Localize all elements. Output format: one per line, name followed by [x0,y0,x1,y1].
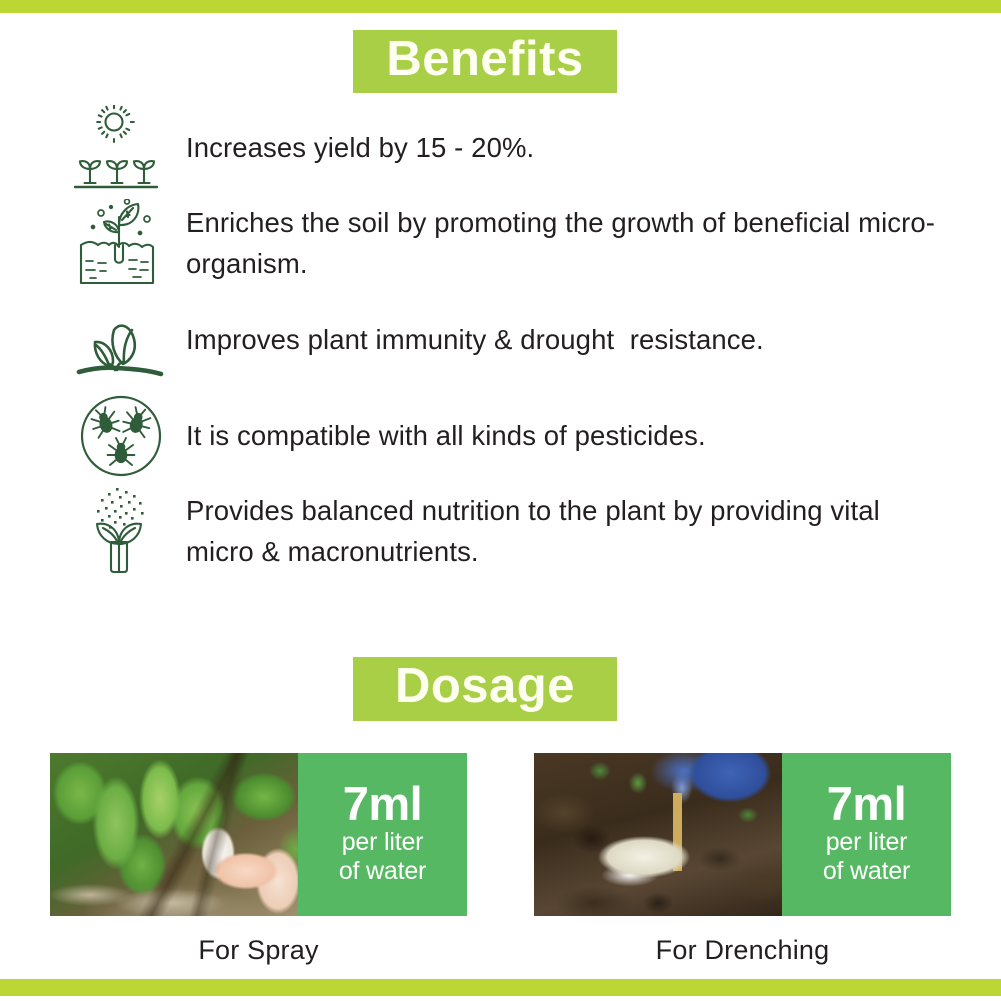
benefit-text: Provides balanced nutrition to the plant… [180,491,942,572]
dosage-amount-panel: 7ml per liter of water [782,753,951,916]
benefit-text: Enriches the soil by promoting the growt… [180,203,942,284]
dosage-card-drenching: 7ml per liter of water For Drenching [534,753,951,966]
dosage-visual: 7ml per liter of water [534,753,951,916]
infographic-page: Benefits [0,0,1001,1001]
top-accent-bar [0,0,1001,13]
dosage-unit-line-2: of water [339,857,426,886]
benefit-item: Improves plant immunity & drought resist… [62,292,942,388]
benefit-item: Enriches the soil by promoting the growt… [62,196,942,292]
dosage-unit-line-1: per liter [342,828,424,857]
dosage-unit-line-1: per liter [826,828,908,857]
dosage-heading-badge: Dosage [353,657,617,721]
insects-in-circle-icon [62,390,180,482]
benefit-text: Increases yield by 15 - 20%. [180,128,942,169]
dosage-cards: 7ml per liter of water For Spray 7ml per… [50,753,951,966]
benefit-text: Improves plant immunity & drought resist… [180,320,942,361]
dosage-amount-panel: 7ml per liter of water [298,753,467,916]
dosage-caption: For Spray [50,935,467,966]
benefit-item: It is compatible with all kinds of pesti… [62,388,942,484]
benefit-item: Increases yield by 15 - 20%. [62,100,942,196]
benefits-list: Increases yield by 15 - 20%. [62,100,942,580]
sun-over-seedlings-icon [62,102,180,194]
dosage-amount: 7ml [827,780,907,829]
hand-spraying-plants-photo [50,753,298,916]
benefit-text: It is compatible with all kinds of pesti… [180,416,942,457]
benefit-item: Provides balanced nutrition to the plant… [62,484,942,580]
watering-can-drenching-soil-photo [534,753,782,916]
plant-in-soil-microorganisms-icon [62,198,180,290]
dosage-amount: 7ml [343,780,423,829]
sprout-with-nutrients-icon [62,486,180,578]
bottom-accent-bar [0,979,1001,996]
dosage-unit-line-2: of water [823,857,910,886]
two-leaves-on-ground-icon [62,294,180,386]
dosage-caption: For Drenching [534,935,951,966]
dosage-visual: 7ml per liter of water [50,753,467,916]
dosage-card-spray: 7ml per liter of water For Spray [50,753,467,966]
benefits-heading-badge: Benefits [353,30,617,93]
